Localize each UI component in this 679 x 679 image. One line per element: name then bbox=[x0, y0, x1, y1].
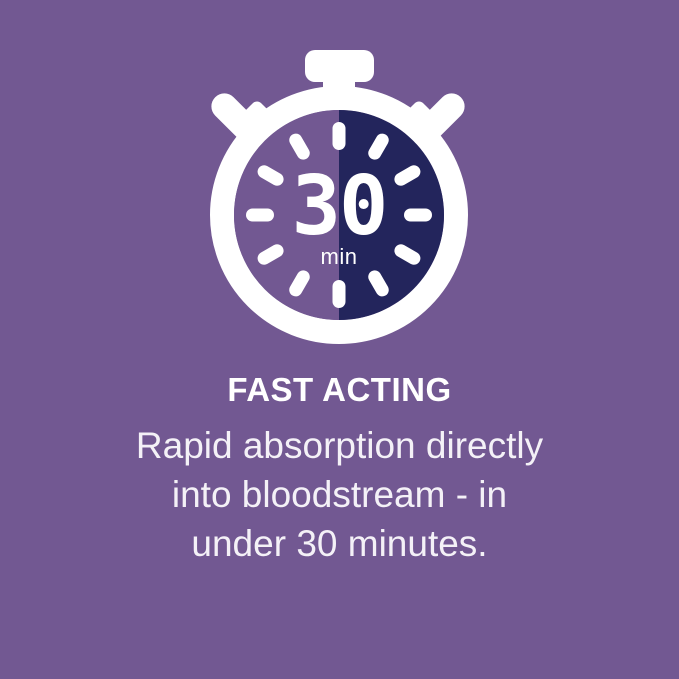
tick-3 bbox=[404, 209, 432, 222]
headline: FAST ACTING bbox=[40, 372, 639, 408]
body-copy-line-1: Rapid absorption directly bbox=[40, 422, 639, 471]
dial-unit-label: min bbox=[321, 244, 358, 269]
stopwatch-crown bbox=[305, 50, 374, 82]
stopwatch-illustration: 30 min bbox=[0, 34, 679, 364]
text-block: FAST ACTING Rapid absorption directly in… bbox=[0, 372, 679, 569]
fast-acting-infographic-card: 30 min FAST ACTING Rapid absorption dire… bbox=[0, 0, 679, 679]
dial-value-30: 30 bbox=[292, 159, 387, 254]
stopwatch-icon: 30 min bbox=[0, 34, 679, 364]
tick-6 bbox=[333, 280, 346, 308]
body-copy-line-3: under 30 minutes. bbox=[40, 520, 639, 569]
tick-12 bbox=[333, 122, 346, 150]
tick-9 bbox=[246, 209, 274, 222]
body-copy: Rapid absorption directly into bloodstre… bbox=[40, 422, 639, 568]
body-copy-line-2: into bloodstream - in bbox=[40, 471, 639, 520]
